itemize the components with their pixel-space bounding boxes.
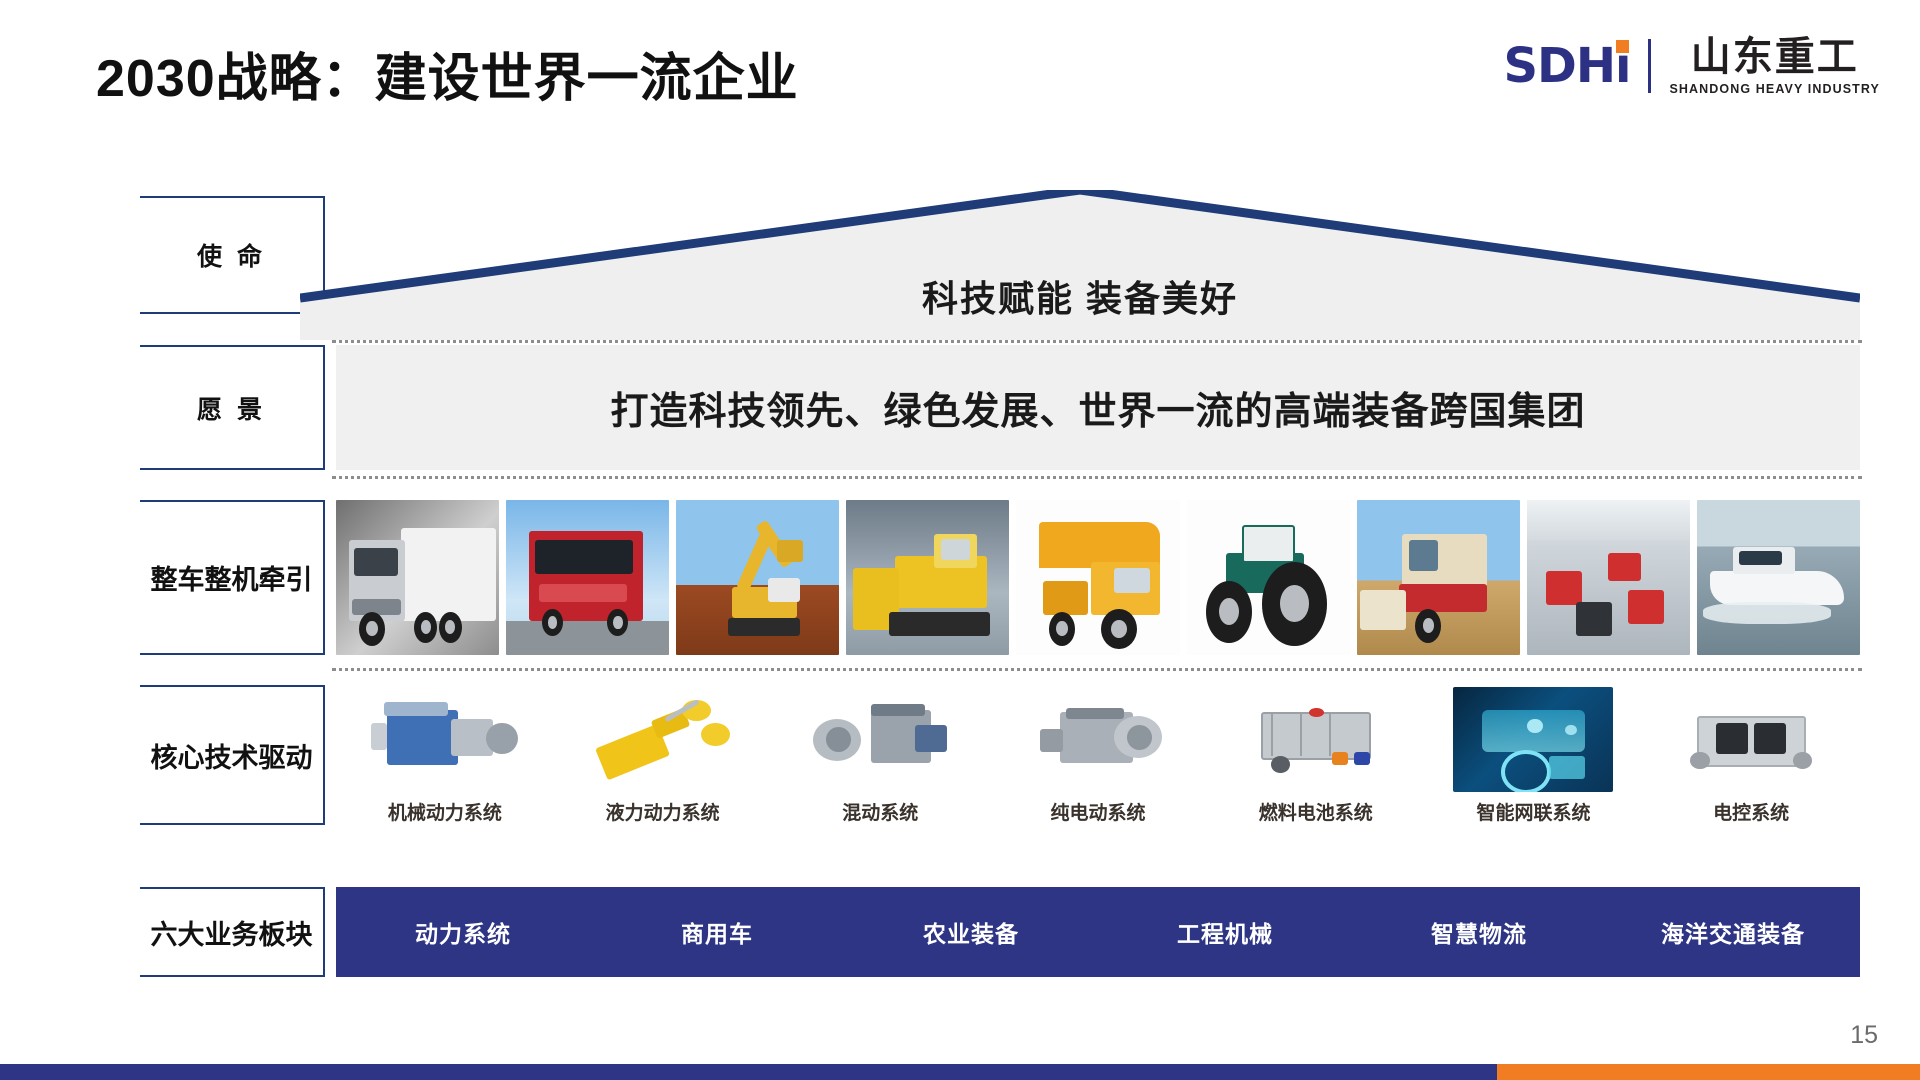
technology-image-hydraulic-powertrain xyxy=(583,687,743,792)
row-label-vision: 愿 景 xyxy=(140,345,325,470)
technology-label-hydraulic-powertrain: 液力动力系统 xyxy=(606,798,720,825)
vehicle-image-bulldozer xyxy=(846,500,1009,655)
technology-label-intelligent-connected-system: 智能网联系统 xyxy=(1476,798,1590,825)
page-number: 15 xyxy=(1850,1021,1878,1050)
footer-bar-blue-segment xyxy=(0,1064,1497,1080)
technology-image-battery-electric-system xyxy=(1018,687,1178,792)
technology-item-intelligent-connected-system: 智能网联系统 xyxy=(1425,675,1643,825)
vehicle-image-excavator xyxy=(676,500,839,655)
technology-label-battery-electric-system: 纯电动系统 xyxy=(1051,798,1146,825)
technology-label-hybrid-system: 混动系统 xyxy=(842,798,918,825)
footer-bar-orange-segment xyxy=(1497,1064,1920,1080)
page-title: 2030战略：建设世界一流企业 xyxy=(96,36,799,111)
vehicle-image-combine-harvester xyxy=(1357,500,1520,655)
row-label-mission-text: 使 命 xyxy=(197,237,266,273)
core-technology-row: 机械动力系统 液力动力系统 混动系统 xyxy=(336,675,1860,825)
sector-item-construction-machinery: 工程机械 xyxy=(1098,915,1352,949)
mission-statement: 科技赋能 装备美好 xyxy=(300,270,1860,322)
technology-image-intelligent-connected-system xyxy=(1453,687,1613,792)
sector-item-commercial-vehicles: 商用车 xyxy=(590,915,844,949)
divider-under-vehicles xyxy=(332,668,1862,671)
row-label-vehicle-traction: 整车整机牵引 xyxy=(140,500,325,655)
row-label-core-technology: 核心技术驱动 xyxy=(140,685,325,825)
mission-roof: 科技赋能 装备美好 xyxy=(300,190,1860,345)
sector-item-smart-logistics: 智慧物流 xyxy=(1352,915,1606,949)
vehicle-image-yacht xyxy=(1697,500,1860,655)
technology-image-hybrid-system xyxy=(800,687,960,792)
technology-item-electronic-control-system: 电控系统 xyxy=(1642,675,1860,825)
logo-wordmark-text: SDHi xyxy=(1503,38,1630,94)
technology-item-battery-electric-system: 纯电动系统 xyxy=(989,675,1207,825)
divider-under-vision xyxy=(332,476,1862,479)
logo-divider xyxy=(1648,39,1651,93)
row-label-core-technology-text: 核心技术驱动 xyxy=(151,736,313,775)
logo-chinese-name: 山东重工 xyxy=(1691,36,1859,78)
vehicle-image-tractor xyxy=(1187,500,1350,655)
sector-item-marine-transport-equipment: 海洋交通装备 xyxy=(1606,915,1860,949)
vision-statement: 打造科技领先、绿色发展、世界一流的高端装备跨国集团 xyxy=(610,380,1585,435)
sector-item-power-systems: 动力系统 xyxy=(336,915,590,949)
row-label-vehicle-traction-text: 整车整机牵引 xyxy=(151,558,313,597)
technology-label-mechanical-powertrain: 机械动力系统 xyxy=(388,798,502,825)
row-label-business-sectors: 六大业务板块 xyxy=(140,887,325,977)
technology-item-hydraulic-powertrain: 液力动力系统 xyxy=(554,675,772,825)
logo-english-name: SHANDONG HEAVY INDUSTRY xyxy=(1669,82,1880,96)
vehicle-image-forklift-fleet xyxy=(1527,500,1690,655)
logo-wordmark: SDHi xyxy=(1503,42,1630,90)
row-label-vision-text: 愿 景 xyxy=(197,390,266,426)
logo-accent-square-icon xyxy=(1616,40,1629,53)
vehicle-image-coach-bus xyxy=(506,500,669,655)
logo-chinese-block: 山东重工 SHANDONG HEAVY INDUSTRY xyxy=(1669,36,1880,96)
technology-label-electronic-control-system: 电控系统 xyxy=(1713,798,1789,825)
technology-image-fuel-cell-system xyxy=(1236,687,1396,792)
business-sectors-bar: 动力系统 商用车 农业装备 工程机械 智慧物流 海洋交通装备 xyxy=(336,887,1860,977)
slide-root: 2030战略：建设世界一流企业 SDHi 山东重工 SHANDONG HEAVY… xyxy=(0,0,1920,1080)
technology-item-hybrid-system: 混动系统 xyxy=(771,675,989,825)
technology-image-electronic-control-system xyxy=(1671,687,1831,792)
row-label-mission: 使 命 xyxy=(140,196,325,314)
row-label-business-sectors-text: 六大业务板块 xyxy=(151,913,313,952)
sector-item-agricultural-equipment: 农业装备 xyxy=(844,915,1098,949)
vehicle-image-mining-dump-truck xyxy=(1016,500,1179,655)
technology-image-mechanical-powertrain xyxy=(365,687,525,792)
vehicle-image-strip xyxy=(336,500,1860,655)
divider-under-mission xyxy=(332,340,1862,343)
technology-item-mechanical-powertrain: 机械动力系统 xyxy=(336,675,554,825)
vehicle-image-heavy-truck xyxy=(336,500,499,655)
company-logo: SDHi 山东重工 SHANDONG HEAVY INDUSTRY xyxy=(1503,36,1880,96)
technology-label-fuel-cell-system: 燃料电池系统 xyxy=(1259,798,1373,825)
technology-item-fuel-cell-system: 燃料电池系统 xyxy=(1207,675,1425,825)
footer-bar xyxy=(0,1064,1920,1080)
vision-band: 打造科技领先、绿色发展、世界一流的高端装备跨国集团 xyxy=(336,345,1860,470)
